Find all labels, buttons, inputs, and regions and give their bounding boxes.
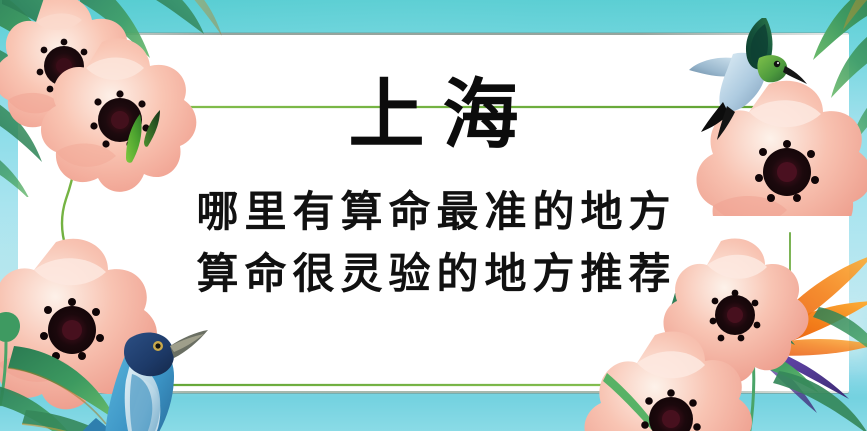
subtitle-line-2: 算命很灵验的地方推荐 <box>190 243 676 305</box>
subtitle-block: 哪里有算命最准的地方 算命很灵验的地方推荐 <box>190 181 676 305</box>
banner-root: 上海 哪里有算命最准的地方 算命很灵验的地方推荐 <box>0 0 867 431</box>
subtitle-line-1: 哪里有算命最准的地方 <box>190 181 676 243</box>
text-layer: 上海 哪里有算命最准的地方 算命很灵验的地方推荐 <box>18 33 849 393</box>
page-title: 上海 <box>331 77 537 153</box>
